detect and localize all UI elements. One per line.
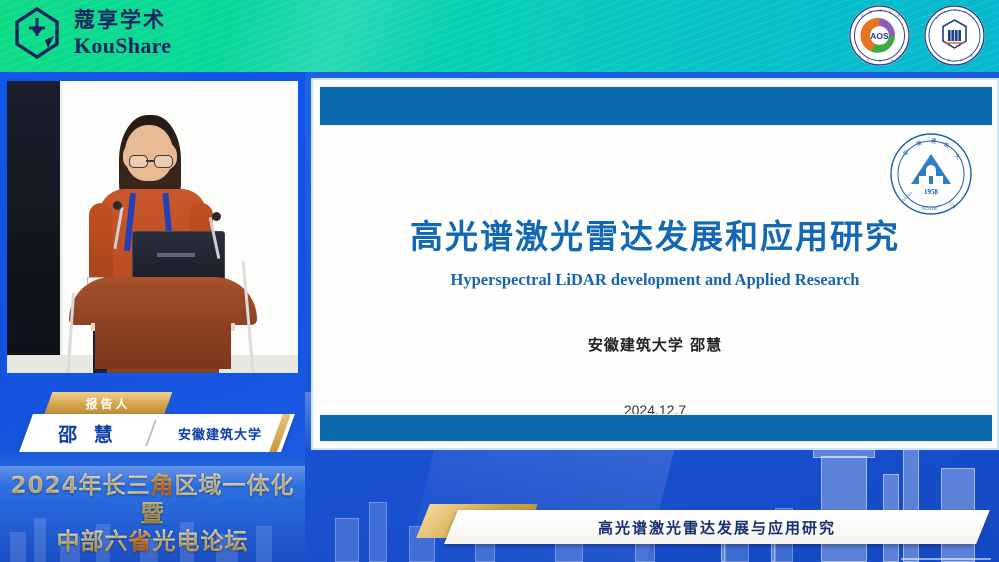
forum-title-seg: 中部六	[57, 529, 129, 555]
slide-panel: 1958 ANHUI JIANZHU UNIVERSITY 安 徽 建 筑 大 …	[305, 72, 999, 562]
speaker-role-tag: 报告人	[44, 392, 173, 416]
presentation-slide[interactable]: 1958 ANHUI JIANZHU UNIVERSITY 安 徽 建 筑 大 …	[311, 78, 999, 450]
bridge-deck	[901, 558, 991, 562]
speaker-video-frame[interactable]	[4, 78, 301, 376]
svg-text:徽: 徽	[869, 10, 872, 14]
svg-text:AOS: AOS	[870, 31, 889, 41]
svg-text:建: 建	[931, 137, 937, 145]
brand-name-cn: 蔻享学术	[74, 10, 171, 31]
speaker-role-label: 报告人	[48, 392, 168, 416]
brand-name-en: KouShare	[74, 35, 171, 57]
forum-title-seg: 2024年长三	[10, 473, 150, 499]
presentation-stream-screen: 蔻享学术 KouShare AOS 安徽省 光学 ANH	[0, 0, 999, 562]
podium-body	[95, 321, 231, 369]
anhui-university-of-technology-logo-icon: ANH UI 工业大学	[924, 5, 985, 66]
svg-text:H: H	[879, 60, 881, 64]
slide-bottom-bar	[319, 414, 993, 442]
slide-subtitle: Hyperspectral LiDAR development and Appl…	[313, 270, 997, 290]
glasses-right-lens	[154, 155, 173, 168]
laptop-logo	[157, 253, 195, 257]
top-brand-bar: 蔻享学术 KouShare AOS 安徽省 光学 ANH	[0, 0, 999, 72]
stage-drape	[7, 81, 60, 373]
forum-title-highlight: 省	[129, 529, 153, 555]
slide-author: 安徽建筑大学 邵慧	[313, 334, 997, 355]
forum-title-seg: 光电论坛	[153, 529, 249, 555]
svg-text:学: 学	[897, 14, 900, 18]
slide-title: 高光谱激光雷达发展和应用研究	[313, 210, 997, 258]
microphone-right-head	[212, 212, 221, 221]
slide-top-bar	[319, 86, 993, 126]
svg-text:H: H	[954, 9, 956, 12]
svg-text:1958: 1958	[924, 188, 939, 196]
aos-logo-icon: AOS 安徽省 光学 ANH UI	[849, 5, 910, 66]
speaker-name-banner: 报告人 邵 慧 安徽建筑大学	[6, 390, 299, 456]
podium-base	[107, 369, 219, 373]
left-panel: 报告人 邵 慧 安徽建筑大学 2024年长三角区域一体化暨	[0, 72, 305, 562]
wall-seam	[60, 81, 63, 373]
svg-text:光: 光	[889, 10, 892, 14]
speaker-organization: 安徽建筑大学	[152, 424, 288, 443]
svg-text:U: U	[891, 58, 893, 62]
forum-title-line-1: 2024年长三角区域一体化暨	[0, 472, 305, 528]
svg-text:N: N	[867, 58, 869, 62]
forum-title: 2024年长三角区域一体化暨 中部六省光电论坛	[0, 472, 305, 556]
forum-title-highlight: 角	[151, 473, 175, 499]
speaker-name: 邵 慧	[26, 420, 150, 447]
svg-text:N: N	[944, 11, 946, 14]
koushare-hex-logo-icon	[12, 6, 62, 60]
city-tower	[335, 518, 359, 562]
svg-text:A: A	[859, 54, 861, 58]
speaker-video[interactable]	[7, 81, 298, 373]
koushare-brand[interactable]: 蔻享学术 KouShare	[12, 6, 171, 60]
forum-title-line-2: 中部六省光电论坛	[0, 528, 305, 556]
slide-footer-ribbon: 高光谱激光雷达发展与应用研究	[423, 504, 983, 544]
glasses-bridge	[146, 160, 154, 162]
svg-text:U: U	[964, 11, 966, 14]
svg-text:省: 省	[879, 9, 882, 13]
anhui-jianzhu-university-seal-icon: 1958 ANHUI JIANZHU UNIVERSITY 安 徽 建 筑 大	[889, 132, 973, 216]
city-tower	[369, 502, 387, 562]
ribbon-text: 高光谱激光雷达发展与应用研究	[451, 510, 983, 544]
left-cityscape: 2024年长三角区域一体化暨 中部六省光电论坛	[0, 452, 305, 562]
microphone-left-head	[113, 201, 122, 210]
svg-text:安: 安	[861, 14, 864, 18]
partner-logos: AOS 安徽省 光学 ANH UI	[849, 5, 985, 66]
podium-top	[69, 277, 257, 325]
